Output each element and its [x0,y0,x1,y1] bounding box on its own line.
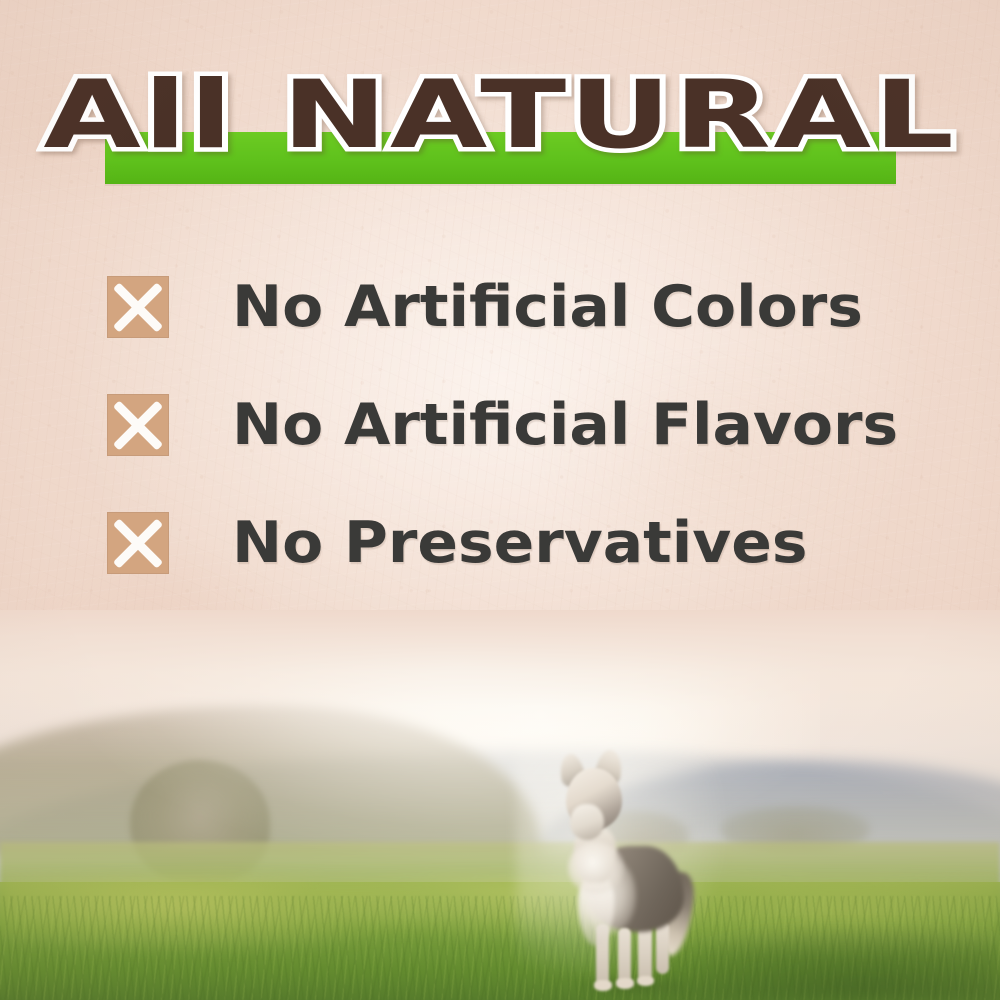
headline-block: All NATURAL [0,0,1000,210]
x-mark-icon [107,512,169,574]
dog-leg [638,926,652,982]
dog-paw [594,980,612,991]
claim-item: No Preservatives [0,484,1000,602]
x-mark-icon [107,276,169,338]
dog-neck-ruff [568,842,624,894]
dog-photo-subject [530,748,710,998]
dog-leg [656,922,669,974]
claim-label: No Preservatives [232,512,808,574]
product-feature-poster: All NATURAL No Artificial Colors No Arti… [0,0,1000,1000]
claim-item: No Artificial Colors [0,248,1000,366]
headline-title: All NATURAL [0,69,1000,163]
dog-paw [616,978,634,989]
lifestyle-photo [0,610,1000,1000]
dog-paw [637,976,654,986]
claim-label: No Artificial Colors [232,276,863,338]
dog-muzzle [570,804,604,840]
claim-label: No Artificial Flavors [232,394,898,456]
photo-top-fade [0,610,1000,730]
x-mark-icon [107,394,169,456]
claim-item: No Artificial Flavors [0,366,1000,484]
